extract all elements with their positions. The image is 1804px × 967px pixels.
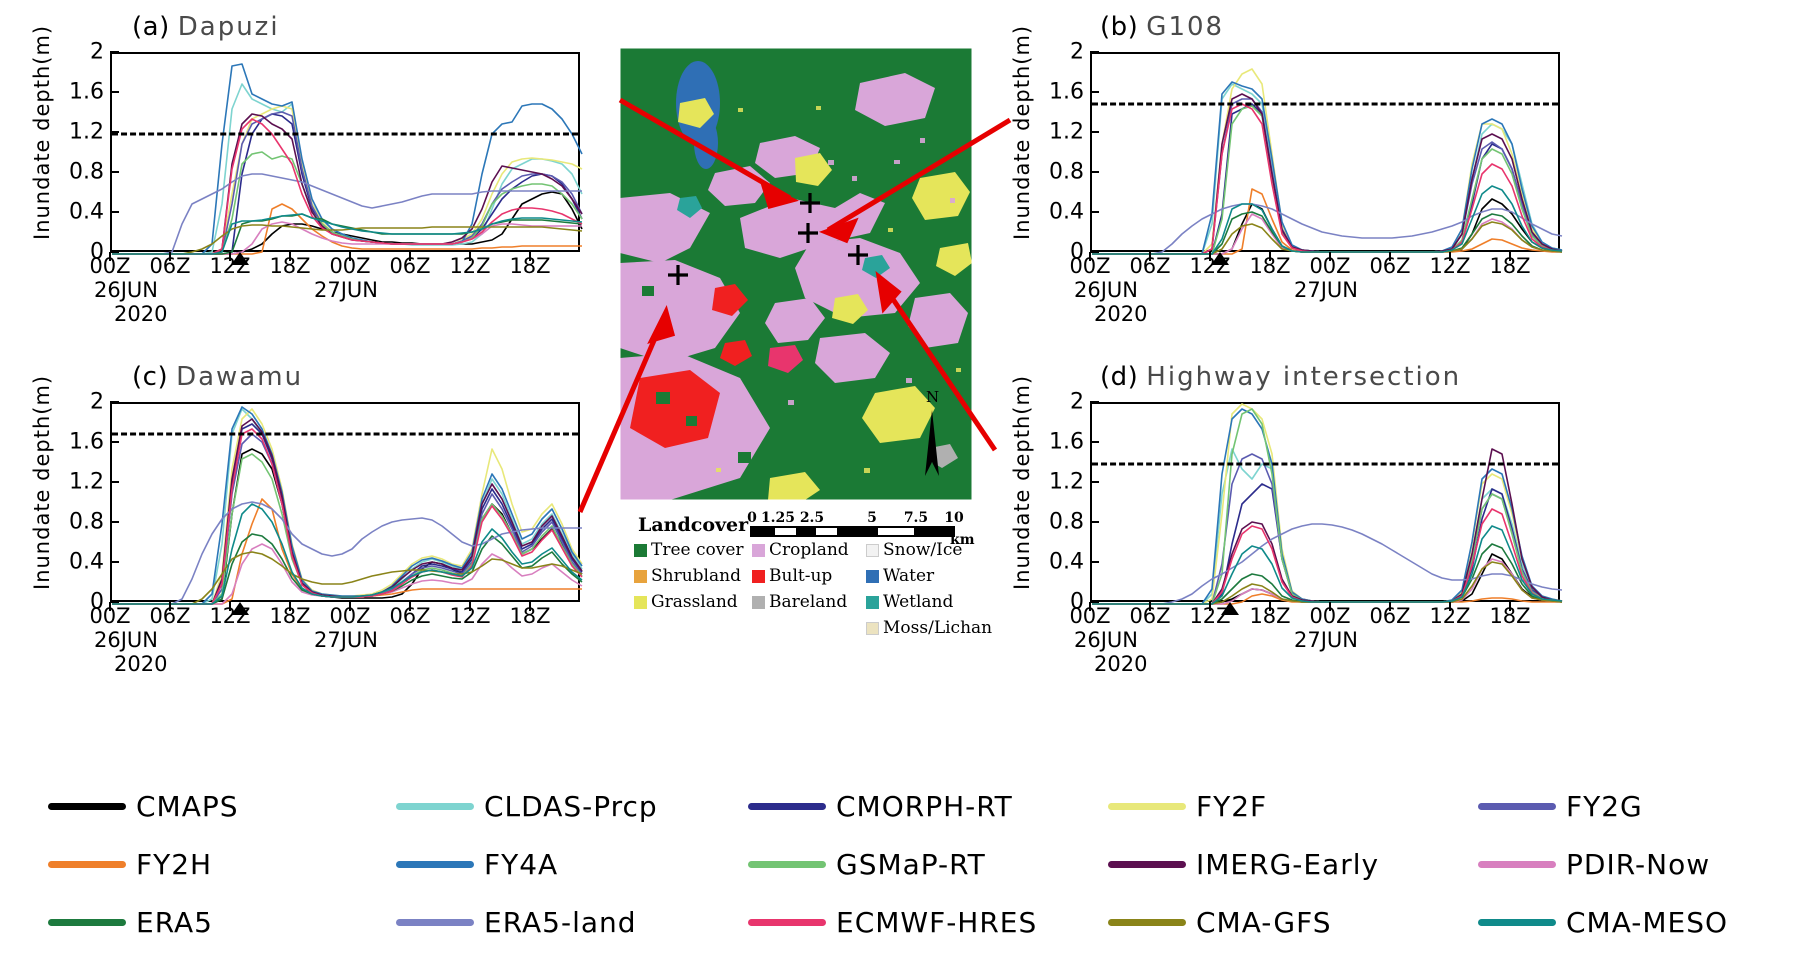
series-legend-swatch bbox=[748, 803, 826, 810]
series-legend-item[interactable]: CMORPH-RT bbox=[748, 790, 1013, 823]
series-legend-label: CLDAS-Prcp bbox=[484, 790, 658, 823]
series-legend-item[interactable]: ECMWF-HRES bbox=[748, 906, 1037, 939]
series-legend-swatch bbox=[1478, 919, 1556, 926]
series-legend-swatch bbox=[48, 803, 126, 810]
series-legend-label: CMA-GFS bbox=[1196, 906, 1331, 939]
series-legend-label: FY2F bbox=[1196, 790, 1267, 823]
arrow-line-dawamu bbox=[580, 315, 665, 512]
series-legend-item[interactable]: CMA-GFS bbox=[1108, 906, 1331, 939]
series-legend-label: ERA5-land bbox=[484, 906, 637, 939]
series-legend-swatch bbox=[48, 861, 126, 868]
series-legend-label: CMORPH-RT bbox=[836, 790, 1013, 823]
series-legend-swatch bbox=[748, 861, 826, 868]
series-legend-swatch bbox=[748, 919, 826, 926]
series-legend: CMAPSCLDAS-PrcpCMORPH-RTFY2FFY2GFY2HFY4A… bbox=[48, 790, 1804, 965]
series-legend-swatch bbox=[396, 919, 474, 926]
series-legend-swatch bbox=[1108, 861, 1186, 868]
series-legend-item[interactable]: IMERG-Early bbox=[1108, 848, 1379, 881]
series-legend-swatch bbox=[48, 919, 126, 926]
series-legend-item[interactable]: ERA5 bbox=[48, 906, 213, 939]
series-legend-item[interactable]: FY4A bbox=[396, 848, 558, 881]
series-legend-label: GSMaP-RT bbox=[836, 848, 986, 881]
arrow-head-g108 bbox=[826, 222, 854, 240]
series-legend-label: IMERG-Early bbox=[1196, 848, 1379, 881]
series-legend-label: FY2G bbox=[1566, 790, 1643, 823]
series-legend-item[interactable]: FY2F bbox=[1108, 790, 1267, 823]
series-legend-swatch bbox=[396, 861, 474, 868]
series-legend-swatch bbox=[396, 803, 474, 810]
series-legend-label: FY2H bbox=[136, 848, 212, 881]
arrow-head-dawamu bbox=[652, 312, 672, 340]
series-legend-label: ECMWF-HRES bbox=[836, 906, 1037, 939]
series-legend-label: ERA5 bbox=[136, 906, 213, 939]
arrow-line-dapuzi bbox=[620, 100, 790, 198]
series-legend-swatch bbox=[1478, 861, 1556, 868]
series-legend-swatch bbox=[1108, 919, 1186, 926]
series-legend-item[interactable]: PDIR-Now bbox=[1478, 848, 1710, 881]
series-legend-label: PDIR-Now bbox=[1566, 848, 1710, 881]
series-legend-item[interactable]: CLDAS-Prcp bbox=[396, 790, 658, 823]
series-legend-item[interactable]: CMAPS bbox=[48, 790, 239, 823]
series-legend-item[interactable]: GSMaP-RT bbox=[748, 848, 986, 881]
series-legend-label: CMA-MESO bbox=[1566, 906, 1728, 939]
series-legend-item[interactable]: FY2H bbox=[48, 848, 212, 881]
figure-root: (a)Dapuzi Inundate depth(m) 00.40.81.21.… bbox=[0, 0, 1804, 967]
series-legend-item[interactable]: ERA5-land bbox=[396, 906, 637, 939]
series-legend-swatch bbox=[1478, 803, 1556, 810]
series-legend-swatch bbox=[1108, 803, 1186, 810]
series-legend-label: CMAPS bbox=[136, 790, 239, 823]
series-legend-label: FY4A bbox=[484, 848, 558, 881]
series-legend-item[interactable]: CMA-MESO bbox=[1478, 906, 1728, 939]
arrow-line-g108 bbox=[828, 120, 1010, 230]
series-legend-item[interactable]: FY2G bbox=[1478, 790, 1643, 823]
arrow-line-highway bbox=[880, 280, 995, 450]
